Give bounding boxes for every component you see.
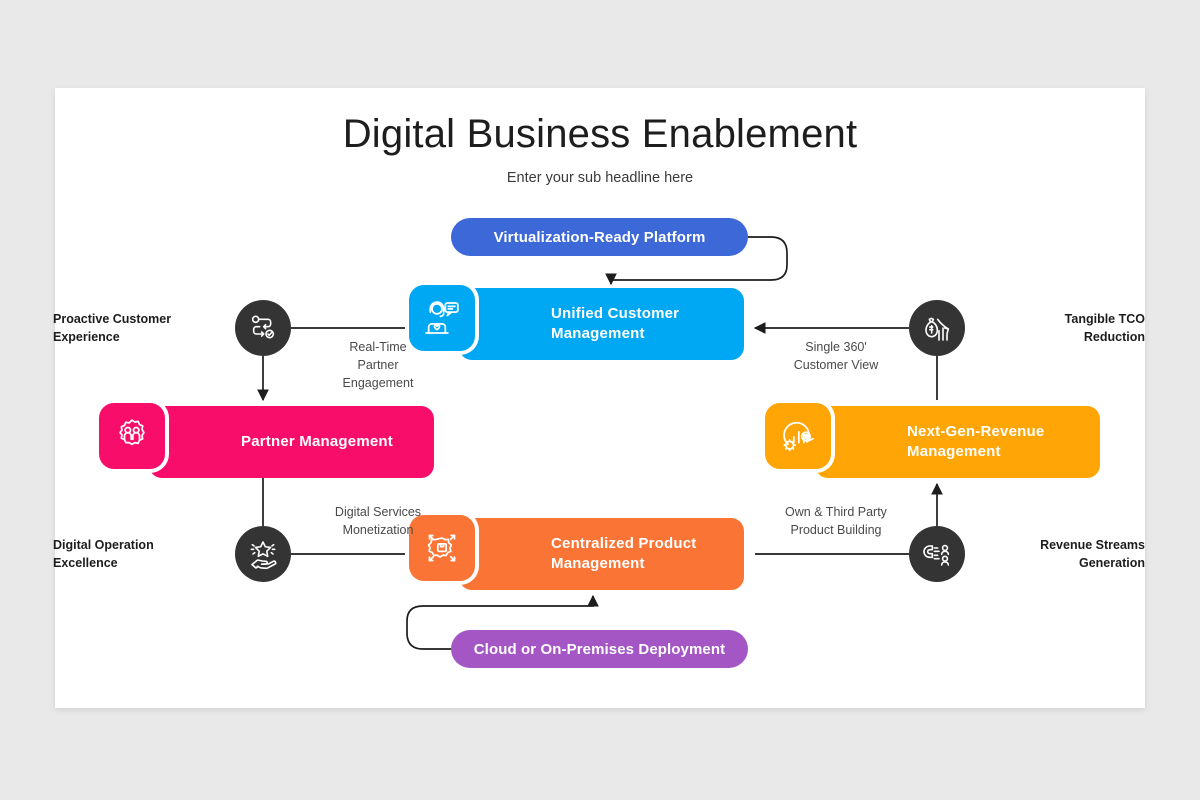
pill-label: Cloud or On-Premises Deployment [474,641,725,658]
card-label-line1: Next-Gen-Revenue [907,422,1044,442]
label-line2: Partner [313,356,443,374]
label-line1: Own & Third Party [763,503,909,521]
card-centralized-product-management[interactable]: Centralized Product Management [459,518,744,590]
card-next-gen-revenue-management[interactable]: Next-Gen-Revenue Management [815,406,1100,478]
label-line2: Reduction [963,328,1145,346]
label-line1: Real-Time [313,338,443,356]
money-bag-declining-chart-icon [921,312,953,344]
label-line2: Product Building [763,521,909,539]
pill-virtualization-ready-platform[interactable]: Virtualization-Ready Platform [451,218,748,256]
pill-cloud-or-on-premises-deployment[interactable]: Cloud or On-Premises Deployment [451,630,748,668]
card-partner-management[interactable]: Partner Management [149,406,434,478]
label-line1: Digital Services [313,503,443,521]
label-tangible-tco-reduction: Tangible TCO Reduction [963,310,1145,346]
label-line1: Revenue Streams [953,536,1145,554]
label-own-and-third-party-product-building: Own & Third Party Product Building [763,503,909,539]
connector-layer [55,88,1145,708]
pill-label: Virtualization-Ready Platform [494,229,706,246]
card-label-line1: Partner Management [241,432,393,452]
card-label: Unified Customer Management [551,304,679,345]
label-real-time-partner-engagement: Real-Time Partner Engagement [313,338,443,392]
label-line1: Digital Operation [53,536,225,554]
card-label-line2: Management [551,554,697,574]
node-proactive-customer-experience[interactable] [235,300,291,356]
star-in-hand-icon [247,538,279,570]
node-digital-operation-excellence[interactable] [235,526,291,582]
revenue-chart-gear-icon [765,403,831,469]
label-digital-operation-excellence: Digital Operation Excellence [53,536,225,572]
card-unified-customer-management[interactable]: Unified Customer Management [459,288,744,360]
label-revenue-streams-generation: Revenue Streams Generation [953,536,1145,572]
label-line1: Tangible TCO [963,310,1145,328]
label-line2: Generation [953,554,1145,572]
label-line3: Engagement [313,374,443,392]
label-digital-services-monetization: Digital Services Monetization [313,503,443,539]
card-label-line1: Unified Customer [551,304,679,324]
label-line1: Single 360' [771,338,901,356]
card-label: Centralized Product Management [551,534,697,575]
node-tangible-tco-reduction[interactable] [909,300,965,356]
gear-people-icon [99,403,165,469]
slide-canvas: Digital Business Enablement Enter your s… [55,88,1145,708]
card-label-line1: Centralized Product [551,534,697,554]
label-line2: Experience [53,328,225,346]
card-label-line2: Management [551,324,679,344]
label-line2: Customer View [771,356,901,374]
label-line1: Proactive Customer [53,310,225,328]
label-line2: Excellence [53,554,225,572]
card-label-line2: Management [907,442,1044,462]
card-label: Next-Gen-Revenue Management [907,422,1044,463]
label-single-360-customer-view: Single 360' Customer View [771,338,901,374]
card-label: Partner Management [241,432,393,452]
customer-journey-flow-icon [247,312,279,344]
label-line2: Monetization [313,521,443,539]
magnet-customers-icon [921,538,953,570]
label-proactive-customer-experience: Proactive Customer Experience [53,310,225,346]
